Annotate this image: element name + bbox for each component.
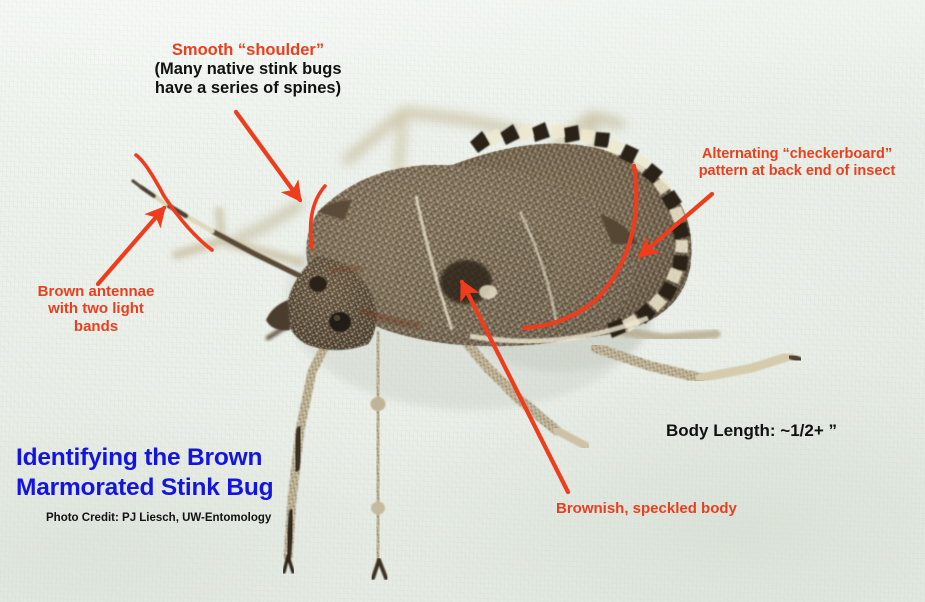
antennae-arc xyxy=(136,155,212,250)
screenshot-canvas: Smooth “shoulder” (Many native stink bug… xyxy=(0,0,925,602)
label-shoulder-line2: (Many native stink bugs xyxy=(118,60,378,79)
page-title: Identifying the Brown Marmorated Stink B… xyxy=(16,443,316,503)
label-checkerboard-line1: Alternating “checkerboard” xyxy=(672,146,922,163)
page-title-line1: Identifying the Brown xyxy=(16,443,316,473)
label-antennae-line3: bands xyxy=(6,318,186,335)
label-speckled-body-line1: Brownish, speckled body xyxy=(556,500,776,517)
label-checkerboard-line2: pattern at back end of insect xyxy=(672,163,922,180)
label-smooth-shoulder: Smooth “shoulder” (Many native stink bug… xyxy=(118,41,378,98)
shoulder-arrow xyxy=(236,112,300,200)
label-brown-antennae: Brown antennae with two light bands xyxy=(6,283,186,335)
antennae-arrow xyxy=(98,208,164,284)
label-antennae-line2: with two light xyxy=(6,300,186,317)
label-body-length: Body Length: ~1/2+ ” xyxy=(666,421,837,441)
label-body-length-line1: Body Length: ~1/2+ ” xyxy=(666,421,837,441)
label-speckled-body: Brownish, speckled body xyxy=(556,500,776,517)
photo-credit: Photo Credit: PJ Liesch, UW-Entomology xyxy=(46,512,271,524)
label-shoulder-line3: have a series of spines) xyxy=(118,79,378,98)
label-shoulder-line1: Smooth “shoulder” xyxy=(118,41,378,60)
label-checkerboard: Alternating “checkerboard” pattern at ba… xyxy=(672,146,922,180)
label-antennae-line1: Brown antennae xyxy=(6,283,186,300)
page-title-line2: Marmorated Stink Bug xyxy=(16,473,316,503)
